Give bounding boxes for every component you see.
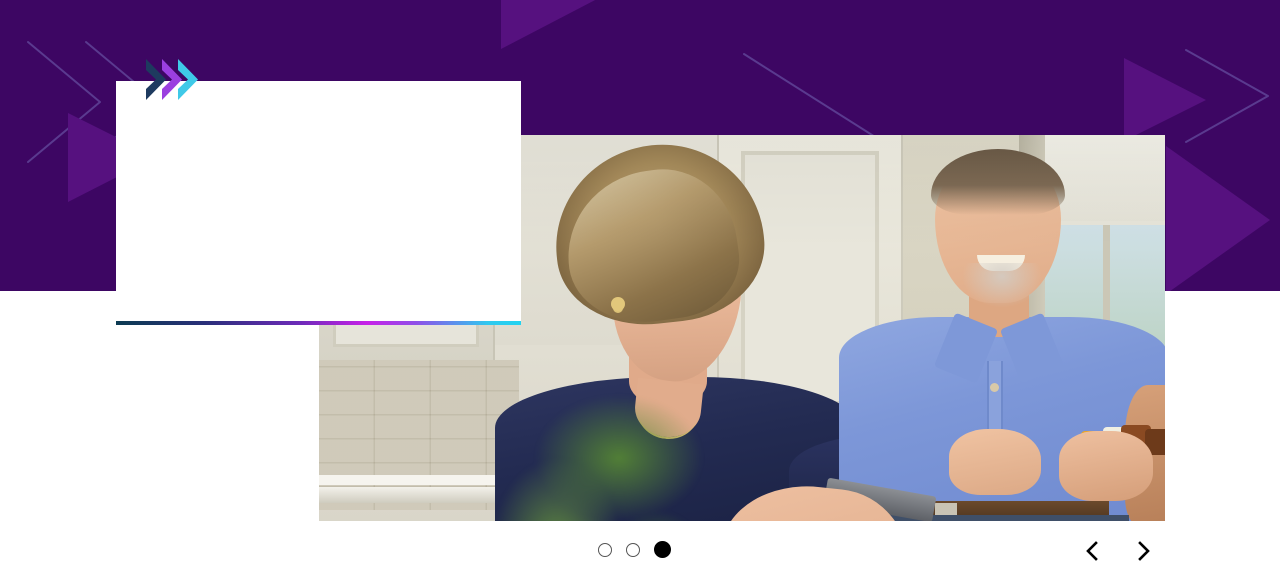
deco-chevron-outline-right bbox=[1172, 36, 1280, 156]
deco-chevron-filled-right-lower bbox=[1160, 140, 1280, 291]
card-accent-gradient-bar bbox=[116, 321, 521, 325]
chevron-left-icon bbox=[1082, 540, 1102, 562]
hero-carousel: Advancing science for more family dinner… bbox=[0, 0, 1280, 583]
triple-chevron-logo[interactable] bbox=[144, 57, 200, 102]
deco-chevron-filled-right bbox=[1118, 52, 1228, 147]
hero-card bbox=[116, 81, 521, 323]
chevron-right-icon bbox=[1134, 540, 1154, 562]
carousel-dot-1[interactable] bbox=[598, 543, 612, 557]
carousel-dot-3-active[interactable] bbox=[654, 541, 671, 558]
carousel-dot-2[interactable] bbox=[626, 543, 640, 557]
deco-chevron-filled-center bbox=[495, 0, 625, 55]
carousel-next-button[interactable] bbox=[1127, 536, 1161, 566]
carousel-prev-button[interactable] bbox=[1075, 536, 1109, 566]
carousel-dots bbox=[598, 541, 671, 558]
